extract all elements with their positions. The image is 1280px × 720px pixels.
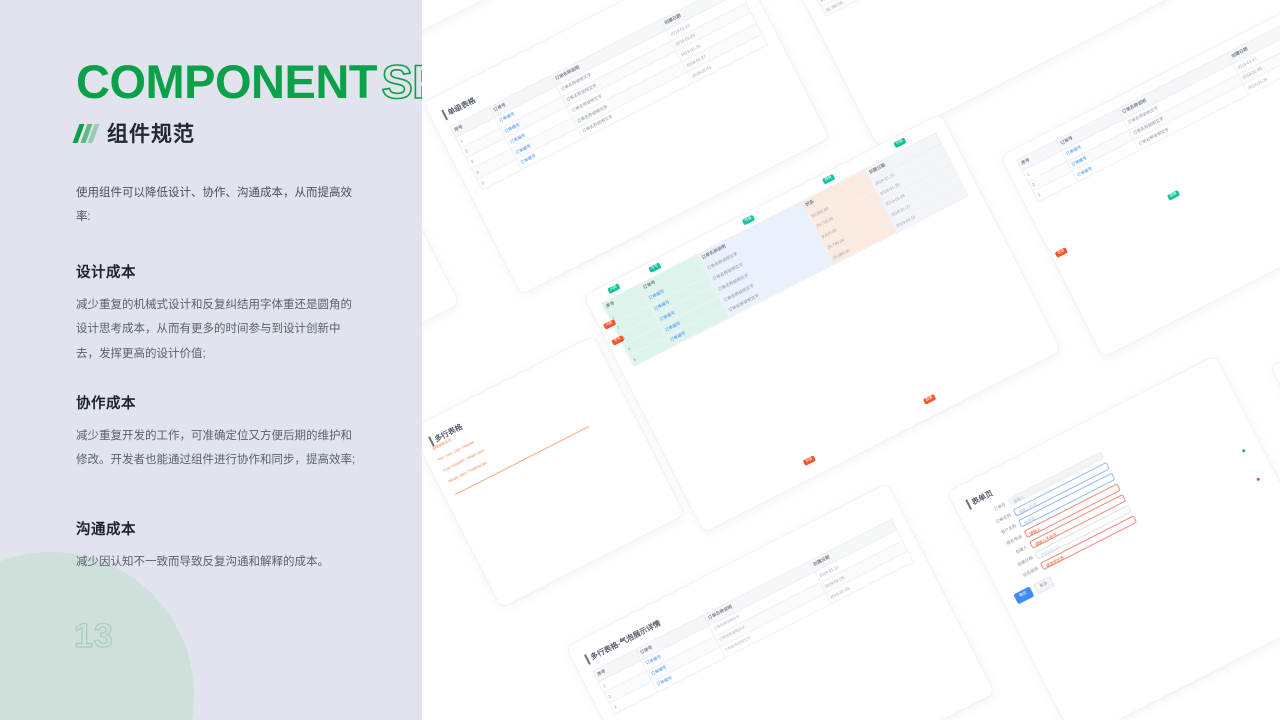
leader-line: [455, 426, 589, 495]
page-number: 13: [74, 617, 114, 656]
subtitle-text: 组件规范: [107, 118, 195, 148]
table-row[interactable]: 8,420.00 70% 2019-01-26: [816, 0, 1093, 6]
section-body: 减少重复开发的工作，可准确定位又方便后期的维护和修改。开发者也能通过组件进行协作…: [76, 424, 361, 473]
annotation-chip: 间距: [607, 283, 620, 294]
option-row: 选项一 选项二 选项三: [422, 0, 447, 28]
form-row: 客户名称 请选择: [422, 0, 452, 37]
section-collaboration-cost: 协作成本 减少重复开发的工作，可准确定位又方便后期的维护和修改。开发者也能通过组…: [76, 392, 361, 473]
annotation-note: Text / Size 12px / Regular: [1271, 405, 1280, 428]
annotation-chip: 圆角: [822, 174, 835, 185]
section-heading: 沟通成本: [76, 518, 361, 539]
left-info-panel: COMPONENT SPECIFICATION 组件规范 使用组件可以降低设计、…: [0, 0, 422, 720]
subtitle-row: 组件规范: [76, 118, 195, 148]
section-heading: 设计成本: [76, 261, 361, 282]
title-word-outline: SPECIFICATION: [381, 55, 422, 108]
annotation-chip: 色值: [742, 215, 755, 226]
mockup-panel-form-page[interactable]: 表单页 订单号 请输入 订单名称 请输入内容 客户名称 请选择 联系电话 请输入…: [948, 356, 1280, 720]
table-row[interactable]: 3 订单编号 订单名称说明文字 2019-01-26: [609, 551, 913, 714]
section-design-cost: 设计成本 减少重复的机械式设计和反复纠结用字体重还是圆角的设计思考成本，从而有更…: [76, 261, 361, 366]
section-body: 减少重复的机械式设计和反复纠结用字体重还是圆角的设计思考成本，从而有更多的时间参…: [76, 293, 361, 366]
mockup-collage-rotated-group: 查询条件 订单号 请输入 订单名称 请输入内容 选项一 选项二 选项三 客户名称…: [422, 0, 1280, 720]
section-body: 减少因认知不一致而导致反复沟通和解释的成本。: [76, 550, 361, 574]
table-header-row: 序号 订单号 订单名称说明 创建日期: [593, 519, 897, 682]
annotation-chip: 行高: [893, 137, 906, 148]
data-table: 序号 订单号 订单名称说明 创建日期 1 订单编号 订单名称说明文字 2019-…: [592, 519, 914, 715]
title-word-solid: COMPONENT: [76, 55, 377, 108]
section-heading: 协作成本: [76, 392, 361, 413]
mockup-panel-filler-left[interactable]: 订单号 请输入 订单名称 请输入内容 间距: [422, 170, 459, 399]
mockup-panel-label: 表单页: [965, 488, 994, 510]
cancel-button[interactable]: 取消: [1033, 576, 1055, 595]
section-communication-cost: 沟通成本 减少因认知不一致而导致反复沟通和解释的成本。: [76, 518, 361, 574]
form-row: 订单号 请输入: [422, 0, 437, 8]
annotation-chip: 字号: [648, 262, 661, 273]
intro-paragraph: 使用组件可以降低设计、协作、沟通成本，从而提高效率:: [76, 182, 356, 229]
mockup-collage: 查询条件 订单号 请输入 订单名称 请输入内容 选项一 选项二 选项三 客户名称…: [422, 0, 1280, 720]
annotation-chip: 色值: [1055, 247, 1068, 258]
form-row: 订单名称 请输入内容: [422, 0, 442, 19]
slash-accent-icon: [76, 124, 96, 143]
data-table: 序号 状态 创建日期 50,000.00 80% 2019-01-21 25,7…: [800, 0, 1098, 17]
annotation-chip: 色值: [803, 455, 816, 466]
table-row[interactable]: 1 订单编号 订单名称说明文字 2019-01-21: [598, 530, 902, 693]
table-row[interactable]: 3 订单编号 订单名称说明文字 2019-01-26: [466, 13, 756, 169]
data-table: 序号 订单号 订单名称说明 创建日期 1 订单编号 订单名称说明文字 2019-…: [449, 0, 768, 190]
table-row[interactable]: 2 订单编号 订单名称说明文字 2019-01-25: [461, 3, 751, 159]
annotation-chip: 圆角: [1167, 190, 1180, 201]
page-title: COMPONENT SPECIFICATION: [76, 58, 422, 105]
confirm-button[interactable]: 确定: [1013, 587, 1034, 605]
annotation-chip: 圆角: [923, 394, 936, 405]
cell-amount: 20,780.00: [821, 0, 926, 16]
table-row[interactable]: 20,780.00 45% 2019-01-27: [821, 0, 1098, 16]
